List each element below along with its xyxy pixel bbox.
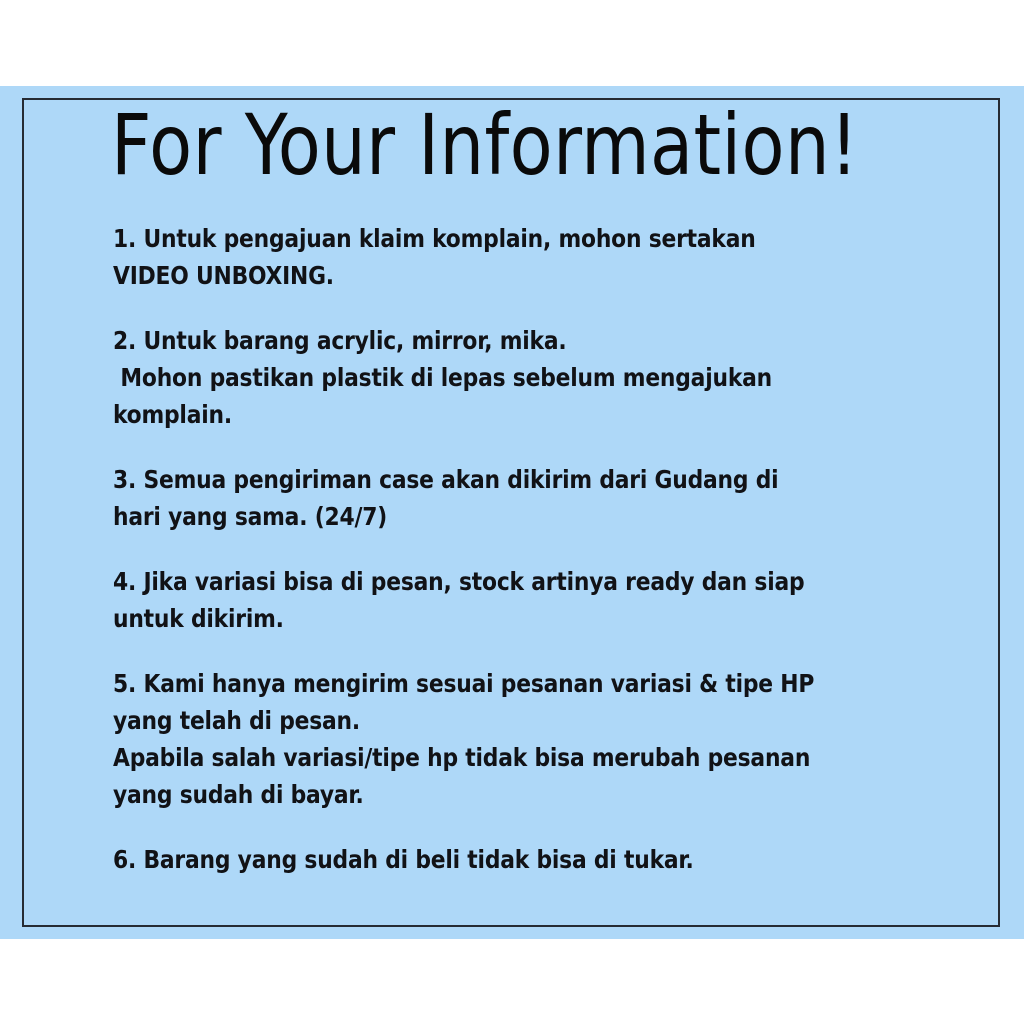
notice-item-list: 1. Untuk pengajuan klaim komplain, mohon…: [113, 220, 933, 878]
notice-line: VIDEO UNBOXING.: [113, 257, 908, 294]
notice-line: untuk dikirim.: [113, 600, 908, 637]
notice-line: 5. Kami hanya mengirim sesuai pesanan va…: [113, 665, 908, 702]
page-title: For Your Information!: [111, 100, 855, 190]
notice-line: yang telah di pesan.: [113, 702, 908, 739]
notice-line: Apabila salah variasi/tipe hp tidak bisa…: [113, 739, 908, 776]
notice-line: 6. Barang yang sudah di beli tidak bisa …: [113, 841, 908, 878]
notice-panel: For Your Information! 1. Untuk pengajuan…: [0, 86, 1024, 939]
notice-line: yang sudah di bayar.: [113, 776, 908, 813]
notice-item: 6. Barang yang sudah di beli tidak bisa …: [113, 841, 933, 878]
notice-line: komplain.: [113, 396, 908, 433]
notice-line: 4. Jika variasi bisa di pesan, stock art…: [113, 563, 908, 600]
notice-line: Mohon pastikan plastik di lepas sebelum …: [113, 359, 908, 396]
notice-line: 1. Untuk pengajuan klaim komplain, mohon…: [113, 220, 908, 257]
notice-line: 3. Semua pengiriman case akan dikirim da…: [113, 461, 908, 498]
notice-line: hari yang sama. (24/7): [113, 498, 908, 535]
page-canvas: For Your Information! 1. Untuk pengajuan…: [0, 0, 1024, 1024]
notice-item: 5. Kami hanya mengirim sesuai pesanan va…: [113, 665, 933, 813]
notice-item: 1. Untuk pengajuan klaim komplain, mohon…: [113, 220, 933, 294]
notice-item: 4. Jika variasi bisa di pesan, stock art…: [113, 563, 933, 637]
notice-line: 2. Untuk barang acrylic, mirror, mika.: [113, 322, 908, 359]
notice-item: 2. Untuk barang acrylic, mirror, mika. M…: [113, 322, 933, 433]
notice-item: 3. Semua pengiriman case akan dikirim da…: [113, 461, 933, 535]
